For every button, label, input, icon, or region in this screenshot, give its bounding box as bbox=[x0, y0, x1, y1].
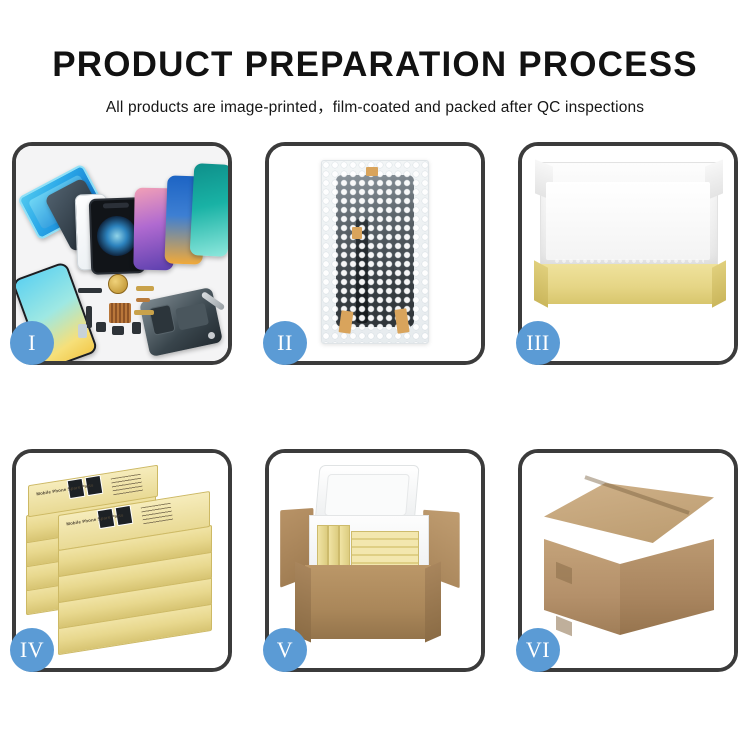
copper-flex-icon bbox=[136, 298, 150, 302]
process-step-panel-2: II bbox=[265, 142, 485, 365]
battery-connector-icon bbox=[78, 324, 87, 338]
process-step-panel-4: Mobile Phone Spare Parts Mobile Phone Sp… bbox=[12, 449, 232, 672]
product-preparation-infographic: PRODUCT PREPARATION PROCESS All products… bbox=[0, 0, 750, 750]
yellow-inner-box-stack-icon bbox=[351, 531, 419, 569]
carton-side-face-icon bbox=[620, 539, 714, 635]
yellow-inner-box-icon bbox=[339, 525, 350, 569]
taptic-engine-icon bbox=[112, 326, 124, 335]
process-step-panel-5: V bbox=[265, 449, 485, 672]
yellow-inner-box-icon bbox=[317, 525, 328, 569]
bubble-texture-icon bbox=[322, 161, 428, 343]
step-badge-1: I bbox=[10, 321, 54, 365]
speaker-module-icon bbox=[108, 274, 128, 294]
step-badge-5: V bbox=[263, 628, 307, 672]
step-badge-6: VI bbox=[516, 628, 560, 672]
step-badge-4: IV bbox=[10, 628, 54, 672]
process-step-grid: I II bbox=[12, 142, 738, 672]
carton-tab-icon bbox=[556, 616, 572, 636]
gold-connector-icon bbox=[136, 286, 154, 291]
step-badge-3: III bbox=[516, 321, 560, 365]
gold-flex-strip-icon bbox=[134, 310, 154, 315]
process-step-panel-6: VI bbox=[518, 449, 738, 672]
yellow-box-tray-icon bbox=[542, 264, 718, 304]
page-title: PRODUCT PREPARATION PROCESS bbox=[0, 0, 750, 85]
sim-tray-icon bbox=[132, 322, 141, 334]
tape-icon bbox=[352, 227, 362, 239]
camera-module-icon bbox=[96, 322, 106, 332]
inner-boxes-group-icon bbox=[317, 525, 419, 569]
bubble-wrap-bag-icon bbox=[321, 160, 429, 344]
yellow-inner-box-icon bbox=[328, 525, 339, 569]
process-step-panel-3: III bbox=[518, 142, 738, 365]
process-step-panel-1: I bbox=[12, 142, 232, 365]
header: PRODUCT PREPARATION PROCESS All products… bbox=[0, 0, 750, 117]
logic-board-chip-icon bbox=[109, 303, 131, 323]
tape-icon bbox=[366, 167, 378, 176]
screw-icon bbox=[208, 332, 215, 339]
page-subtitle: All products are image-printed，film-coat… bbox=[0, 85, 750, 117]
step-badge-2: II bbox=[263, 321, 307, 365]
part-strip-icon bbox=[78, 288, 102, 293]
cardboard-carton-icon bbox=[305, 565, 431, 639]
yellow-box-stack-icon: Mobile Phone Spare Parts Mobile Phone Sp… bbox=[24, 475, 228, 647]
teal-phone-icon bbox=[190, 163, 228, 257]
white-foam-sheet-icon bbox=[546, 182, 710, 260]
